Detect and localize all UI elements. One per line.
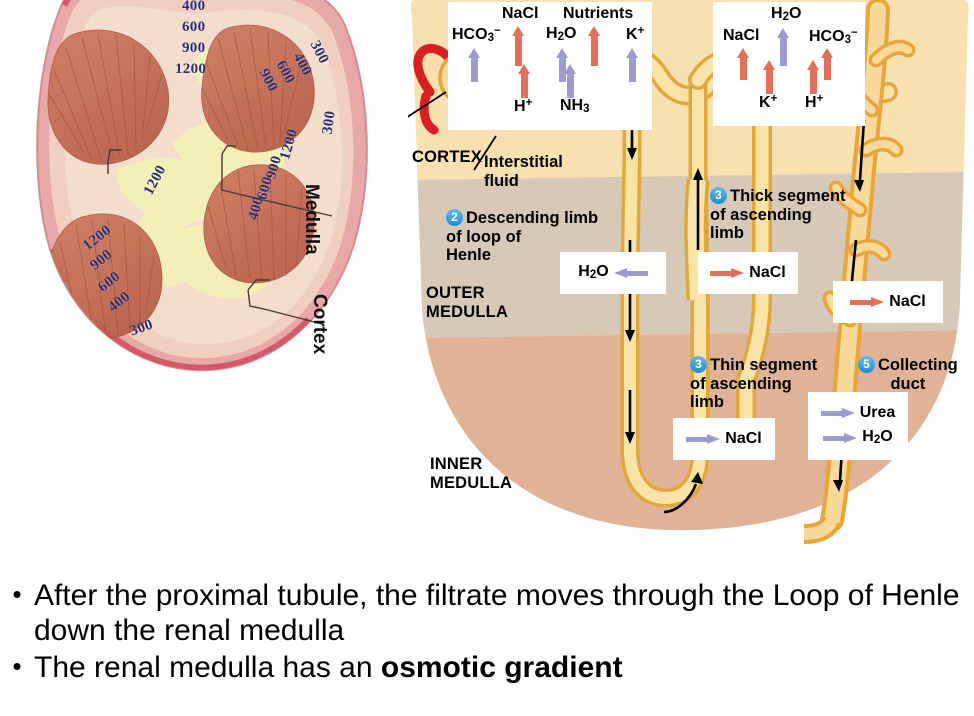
callout-label: Thick segment of ascending limb <box>710 187 846 243</box>
step-badge-5: 5 <box>858 356 875 373</box>
chem-nutrients: Nutrients <box>563 6 633 22</box>
step-badge-3b: 3 <box>690 356 707 373</box>
slide-bullet-list: • After the proximal tubule, the filtrat… <box>0 578 974 687</box>
chem-water: H2O <box>546 26 576 44</box>
transport-row-urea: Urea <box>821 405 896 421</box>
kidney-label-cortex: Cortex <box>308 294 330 354</box>
callout-label: Collecting duct <box>878 356 958 393</box>
kidney-cross-section-figure: 400 600 900 1200 300 400 600 900 300 120… <box>22 0 382 384</box>
chem-hydrogen: H+ <box>805 94 823 111</box>
callout-collecting-duct: 5Collecting duct <box>858 337 958 393</box>
zone-label-cortex: CORTEX <box>412 148 482 167</box>
arrow-urea-right <box>821 408 855 419</box>
arrow-sodium-chloride <box>512 26 525 66</box>
osmolarity-value: 400 <box>182 0 205 15</box>
arrow-hydrogen <box>518 64 531 98</box>
chem-water: H2O <box>578 264 608 282</box>
arrow-water-right <box>823 433 857 444</box>
chem-sodium-chloride: NaCl <box>502 6 538 22</box>
osmolarity-value: 1200 <box>175 61 206 78</box>
list-item: • The renal medulla has an osmotic gradi… <box>0 650 974 685</box>
osmolarity-value: 300 <box>320 110 340 136</box>
arrow-hydrogen <box>807 60 820 94</box>
arrow-nacl-right <box>686 434 720 445</box>
chem-ammonia: NH3 <box>560 98 590 116</box>
bullet-marker: • <box>0 578 34 612</box>
transport-box-collecting-nacl-outer: NaCl <box>833 281 943 323</box>
arrow-bicarbonate <box>468 48 481 82</box>
arrow-nacl-right <box>710 268 744 279</box>
zone-label-outer-medulla: OUTER MEDULLA <box>426 284 508 322</box>
chem-potassium: K+ <box>626 26 644 43</box>
arrow-bicarbonate <box>821 48 834 80</box>
transport-row-water: H2O <box>823 429 892 447</box>
osmolarity-value: 900 <box>182 40 205 57</box>
transport-box-descending-water: H2O <box>560 252 666 294</box>
chem-sodium-chloride: NaCl <box>889 294 925 310</box>
arrow-potassium <box>626 48 639 82</box>
step-badge-3a: 3 <box>710 187 727 204</box>
callout-thick-ascending-limb: 3Thick segment of ascending limb <box>710 168 846 243</box>
chem-bicarbonate: HCO3− <box>452 26 501 45</box>
callout-interstitial-fluid: Interstitial fluid <box>484 134 563 190</box>
slide-canvas: 400 600 900 1200 300 400 600 900 300 120… <box>0 0 974 716</box>
arrow-nacl-right <box>850 297 884 308</box>
proximal-transport-box: HCO3− NaCl H2O Nutrients K+ H+ NH3 <box>448 2 652 130</box>
nephron-tubule-diagram: HCO3− NaCl H2O Nutrients K+ H+ NH3 <box>408 0 974 570</box>
bullet-marker: • <box>0 650 34 684</box>
callout-label: Interstitial fluid <box>484 153 563 190</box>
chem-hydrogen: H+ <box>514 98 532 115</box>
chem-sodium-chloride: NaCl <box>749 265 785 281</box>
chem-potassium: K+ <box>759 94 777 111</box>
arrow-water <box>777 28 790 66</box>
list-item: • After the proximal tubule, the filtrat… <box>0 578 974 648</box>
zone-label-inner-medulla: INNER MEDULLA <box>430 455 512 493</box>
chem-urea: Urea <box>860 405 896 421</box>
callout-thin-ascending-limb: 3Thin segment of ascending limb <box>690 337 817 412</box>
transport-box-collecting-urea-water: Urea H2O <box>808 392 908 460</box>
bullet-text: After the proximal tubule, the filtrate … <box>34 578 974 648</box>
kidney-label-medulla: Medulla <box>300 184 322 255</box>
step-badge-2: 2 <box>446 209 463 226</box>
arrow-nutrients <box>588 26 601 66</box>
bullet-text-plain: The renal medulla has an <box>34 651 381 684</box>
transport-box-thin-nacl: NaCl <box>673 418 775 460</box>
arrow-water-left <box>614 268 648 279</box>
chem-water: H2O <box>862 429 892 447</box>
bullet-text-emphasis: osmotic gradient <box>381 651 623 684</box>
distal-transport-box: NaCl H2O HCO3− K+ H+ <box>713 2 865 126</box>
callout-label: Thin segment of ascending limb <box>690 356 817 412</box>
chem-sodium-chloride: NaCl <box>723 28 759 44</box>
chem-sodium-chloride: NaCl <box>725 431 761 447</box>
chem-bicarbonate: HCO3− <box>809 28 858 47</box>
transport-box-thick-nacl: NaCl <box>698 252 798 294</box>
arrow-ammonia <box>564 64 577 98</box>
bullet-text: The renal medulla has an osmotic gradien… <box>34 650 974 685</box>
arrow-sodium-chloride <box>737 48 750 80</box>
arrow-potassium <box>763 60 776 94</box>
chem-water: H2O <box>771 6 801 24</box>
osmolarity-value: 600 <box>182 19 205 36</box>
